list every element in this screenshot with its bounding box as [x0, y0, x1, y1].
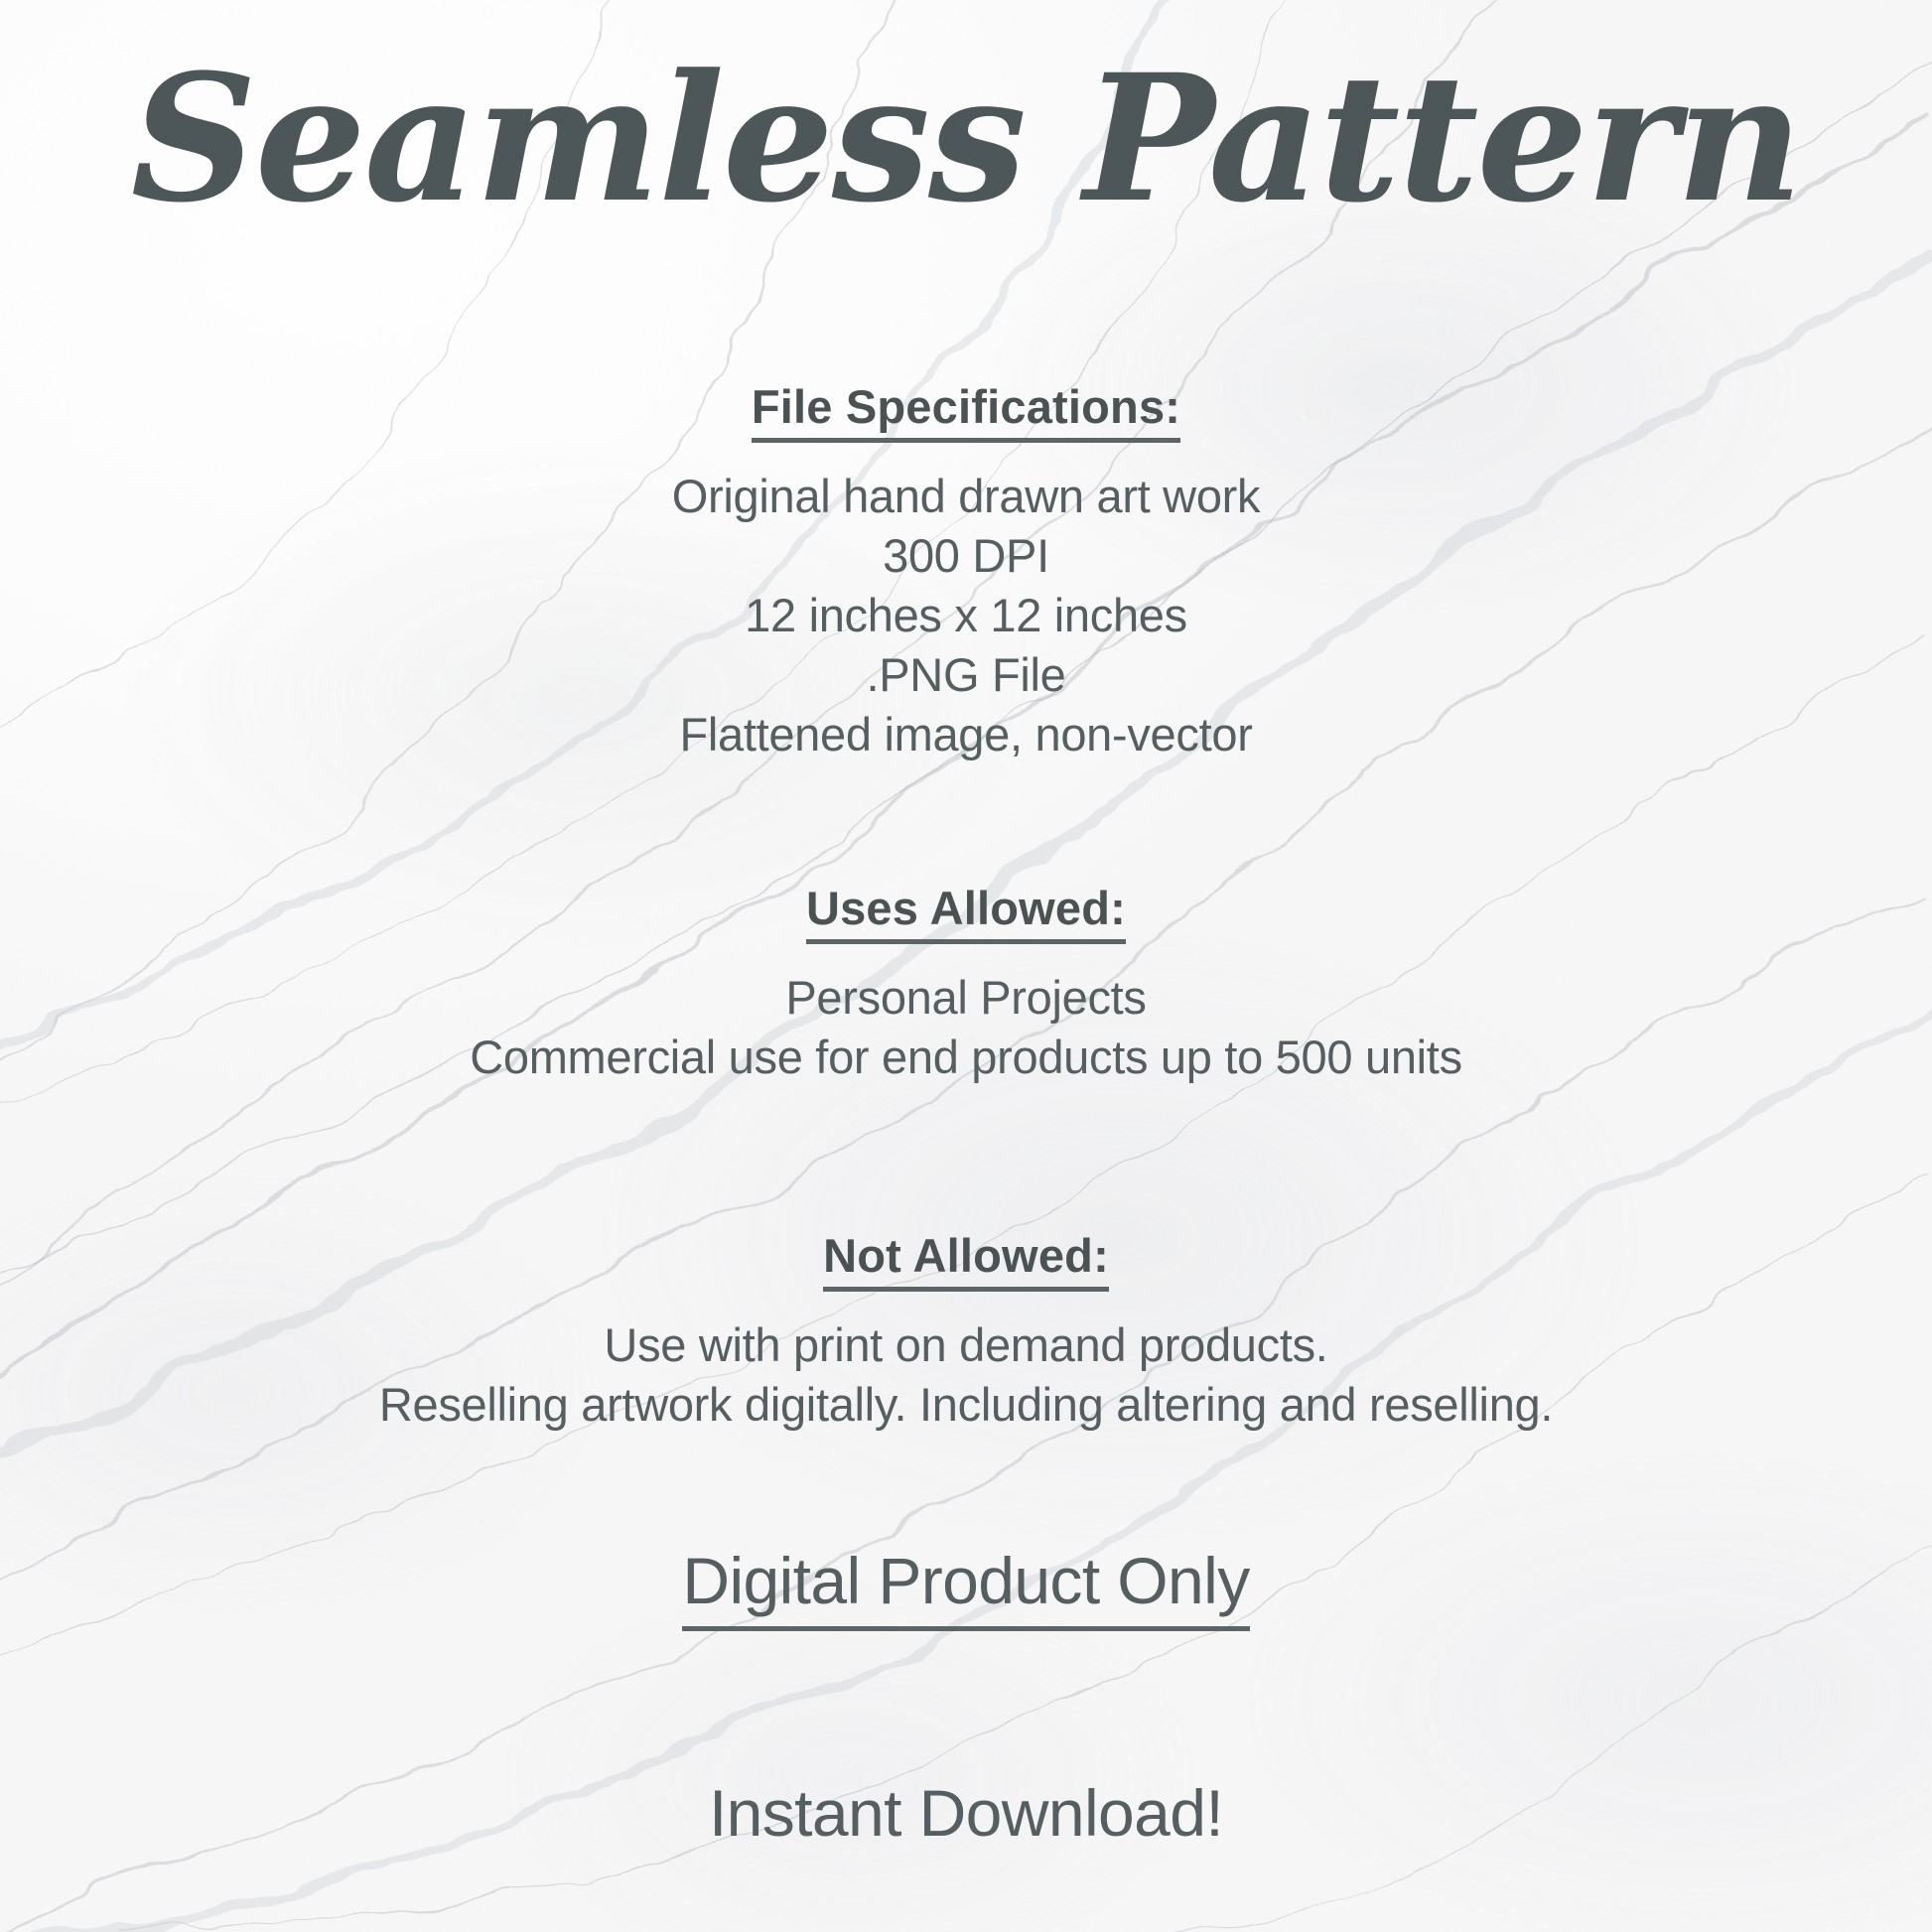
not-allowed-heading-wrap: Not Allowed:: [0, 1231, 1932, 1292]
callout-digital-product-only-wrap: Digital Product Only: [0, 1545, 1932, 1631]
file-specifications-lines: Original hand drawn art work 300 DPI 12 …: [0, 467, 1932, 764]
list-item: Flattened image, non-vector: [0, 705, 1932, 764]
list-item: Personal Projects: [0, 968, 1932, 1028]
callout-instant-download-wrap: Instant Download!: [0, 1777, 1932, 1859]
callout-digital-product-only: Digital Product Only: [682, 1545, 1249, 1631]
not-allowed-lines: Use with print on demand products. Resel…: [0, 1315, 1932, 1435]
uses-allowed-heading-wrap: Uses Allowed:: [0, 884, 1932, 944]
section-uses-allowed: Uses Allowed: Personal Projects Commerci…: [0, 884, 1932, 1087]
list-item: 12 inches x 12 inches: [0, 586, 1932, 645]
uses-allowed-heading: Uses Allowed:: [806, 884, 1126, 944]
file-specifications-heading: File Specifications:: [752, 382, 1180, 443]
list-item: Use with print on demand products.: [0, 1315, 1932, 1375]
file-specifications-heading-wrap: File Specifications:: [0, 382, 1932, 443]
list-item: Original hand drawn art work: [0, 467, 1932, 526]
list-item: 300 DPI: [0, 526, 1932, 586]
section-file-specifications: File Specifications: Original hand drawn…: [0, 382, 1932, 764]
not-allowed-heading: Not Allowed:: [823, 1231, 1109, 1292]
list-item: .PNG File: [0, 645, 1932, 705]
list-item: Commercial use for end products up to 50…: [0, 1028, 1932, 1087]
list-item: Reselling artwork digitally. Including a…: [0, 1375, 1932, 1435]
content-layer: Seamless Pattern File Specifications: Or…: [0, 0, 1932, 1932]
section-not-allowed: Not Allowed: Use with print on demand pr…: [0, 1231, 1932, 1435]
callout-instant-download: Instant Download!: [709, 1777, 1223, 1859]
page-title: Seamless Pattern: [0, 52, 1932, 226]
uses-allowed-lines: Personal Projects Commercial use for end…: [0, 968, 1932, 1087]
product-info-graphic: Seamless Pattern File Specifications: Or…: [0, 0, 1932, 1932]
